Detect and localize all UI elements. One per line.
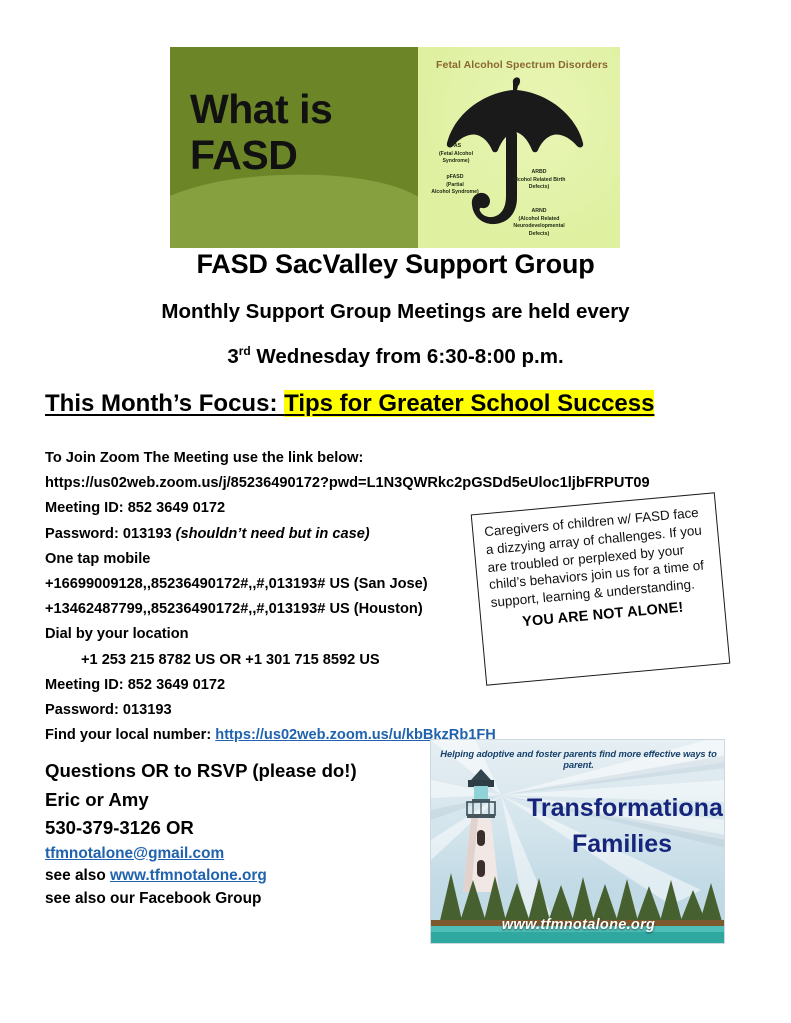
contact-questions-rsvp: Questions OR to RSVP (please do!) bbox=[45, 757, 435, 786]
zoom-password-note: (shouldn’t need but in case) bbox=[176, 526, 370, 542]
banner-title: What is FASD bbox=[190, 87, 415, 179]
contact-website-link[interactable]: www.tfmnotalone.org bbox=[110, 867, 267, 884]
contact-see-also-label: see also bbox=[45, 867, 110, 884]
contact-email-row: tfmnotalone@gmail.com bbox=[45, 843, 435, 866]
umbrella-label-arnd: ARND (Alcohol Related Neurodevelopmental… bbox=[500, 208, 578, 238]
zoom-meeting-id-second: Meeting ID: 852 3649 0172 bbox=[45, 673, 745, 698]
tf-brand-name-line2: Families bbox=[527, 826, 717, 862]
tf-tagline: Helping adoptive and foster parents find… bbox=[431, 748, 725, 770]
monthly-focus-label: This Month’s Focus: bbox=[45, 390, 284, 417]
tf-website-url: www.tfmnotalone.org bbox=[431, 917, 725, 933]
meeting-time-text: Wednesday from 6:30-8:00 p.m. bbox=[251, 345, 564, 368]
banner-caption: Fetal Alcohol Spectrum Disorders bbox=[428, 59, 616, 71]
contact-facebook-line: see also our Facebook Group bbox=[45, 888, 435, 911]
zoom-join-url[interactable]: https://us02web.zoom.us/j/85236490172?pw… bbox=[45, 471, 745, 496]
caregivers-callout-box: Caregivers of children w/ FASD face a di… bbox=[471, 492, 731, 685]
umbrella-label-fas: FAS (Fetal Alcohol Syndrome) bbox=[426, 143, 486, 166]
monthly-focus-line: This Month’s Focus: Tips for Greater Sch… bbox=[45, 390, 755, 418]
meeting-day-ordinal-number: 3 bbox=[227, 345, 238, 368]
meeting-day-ordinal-suffix: rd bbox=[239, 344, 251, 358]
fasd-header-banner: What is FASD Fetal Alcohol Spectrum Diso… bbox=[170, 47, 620, 248]
contact-names: Eric or Amy bbox=[45, 786, 435, 815]
zoom-find-local-label: Find your local number: bbox=[45, 727, 215, 743]
contact-email-link[interactable]: tfmnotalone@gmail.com bbox=[45, 845, 224, 862]
meeting-schedule-line-2: 3rd Wednesday from 6:30-8:00 p.m. bbox=[0, 345, 791, 369]
zoom-intro-line: To Join Zoom The Meeting use the link be… bbox=[45, 446, 745, 471]
umbrella-label-arbd: ARBD Alcohol Related Birth Defects) bbox=[500, 169, 578, 192]
tf-brand-name: Transformational Families bbox=[527, 790, 717, 863]
contact-website-row: see also www.tfmnotalone.org bbox=[45, 865, 435, 888]
meeting-schedule-line-1: Monthly Support Group Meetings are held … bbox=[0, 300, 791, 324]
zoom-password-second: Password: 013193 bbox=[45, 698, 745, 723]
contact-block: Questions OR to RSVP (please do!) Eric o… bbox=[45, 757, 435, 910]
contact-phone: 530-379-3126 OR bbox=[45, 814, 435, 843]
zoom-password-first-value: Password: 013193 bbox=[45, 526, 176, 542]
page-title: FASD SacValley Support Group bbox=[0, 249, 791, 280]
tf-brand-name-line1: Transformational bbox=[527, 790, 717, 826]
caregivers-callout-body: Caregivers of children w/ FASD face a di… bbox=[484, 503, 712, 612]
monthly-focus-topic: Tips for Greater School Success bbox=[284, 390, 654, 417]
umbrella-label-pfasd: pFASD (Partial Alcohol Syndrome) bbox=[424, 174, 486, 197]
transformational-families-logo: Helping adoptive and foster parents find… bbox=[430, 739, 725, 944]
